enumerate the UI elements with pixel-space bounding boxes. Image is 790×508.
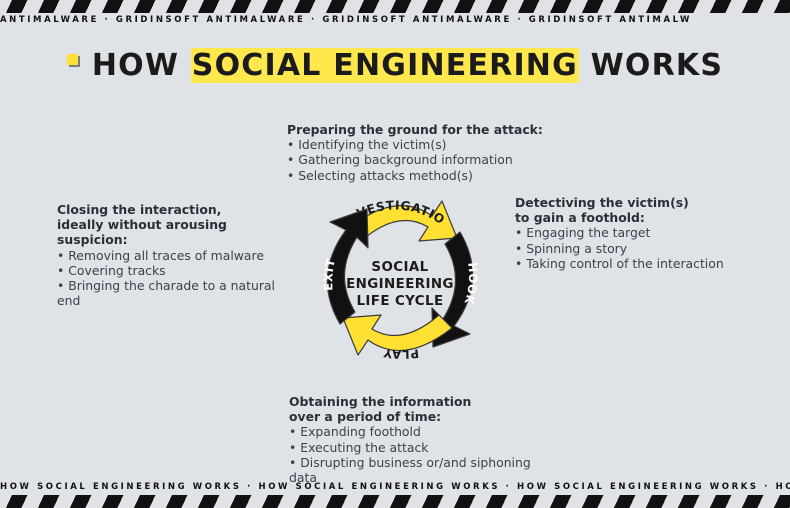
- infographic-page: ANTIMALWARE · GRIDINSOFT ANTIMALWARE · G…: [0, 0, 790, 508]
- list-item: Bringing the charade to a natural end: [57, 278, 287, 308]
- list-item: Covering tracks: [57, 263, 287, 278]
- list-item: Taking control of the interaction: [515, 256, 755, 271]
- list-item: Removing all traces of malware: [57, 248, 287, 263]
- cycle-center-line-1: SOCIAL: [371, 260, 428, 275]
- page-title: HOW SOCIAL ENGINEERING WORKS: [92, 48, 723, 83]
- cycle-arrow-label: PLAY: [382, 346, 420, 362]
- stage-block-detecting: Detectiving the victim(s) to gain a foot…: [515, 195, 755, 271]
- page-title-row: HOW SOCIAL ENGINEERING WORKS: [0, 48, 790, 83]
- top-diagonal-stripes: [0, 0, 790, 13]
- block-heading-line-2: to gain a foothold:: [515, 210, 755, 225]
- yellow-square-bullet-icon: [67, 54, 78, 65]
- list-item: Identifying the victim(s): [287, 137, 547, 152]
- cycle-arrow-investigation: INVESTIGATION: [300, 188, 457, 241]
- block-list: Identifying the victim(s) Gathering back…: [287, 137, 547, 183]
- stage-block-closing: Closing the interaction, ideally without…: [57, 202, 287, 308]
- list-item: Executing the attack: [289, 440, 549, 455]
- bottom-diagonal-stripes: [0, 495, 790, 508]
- block-heading-line-1: Closing the interaction,: [57, 202, 287, 217]
- cycle-arrow-play: PLAY: [343, 315, 452, 362]
- list-item: Expanding foothold: [289, 424, 549, 439]
- list-item: Engaging the target: [515, 225, 755, 240]
- block-heading-line-2: ideally without arousing suspicion:: [57, 217, 287, 247]
- stage-block-obtaining: Obtaining the information over a period …: [289, 394, 549, 485]
- block-heading-line-1: Obtaining the information: [289, 394, 549, 409]
- block-heading-line-2: over a period of time:: [289, 409, 549, 424]
- top-decorative-band: ANTIMALWARE · GRIDINSOFT ANTIMALWARE · G…: [0, 0, 790, 28]
- block-list: Engaging the target Spinning a story Tak…: [515, 225, 755, 271]
- bottom-decorative-band: HOW SOCIAL ENGINEERING WORKS · HOW SOCIA…: [0, 480, 790, 508]
- block-list: Expanding foothold Executing the attack …: [289, 424, 549, 485]
- block-heading: Preparing the ground for the attack:: [287, 122, 547, 137]
- top-marquee-text: ANTIMALWARE · GRIDINSOFT ANTIMALWARE · G…: [0, 13, 790, 28]
- list-item: Spinning a story: [515, 241, 755, 256]
- title-part-1: HOW: [92, 48, 191, 83]
- list-item: Selecting attacks method(s): [287, 168, 547, 183]
- title-part-2: WORKS: [579, 48, 723, 83]
- title-highlight: SOCIAL ENGINEERING: [191, 48, 579, 83]
- bottom-marquee-text: HOW SOCIAL ENGINEERING WORKS · HOW SOCIA…: [0, 480, 790, 495]
- block-heading-line-1: Detectiving the victim(s): [515, 195, 755, 210]
- cycle-center-line-3: LIFE CYCLE: [356, 294, 443, 309]
- cycle-center-line-2: ENGINEERING: [346, 277, 454, 292]
- social-engineering-life-cycle-diagram: INVESTIGATION HOOK PLAY: [300, 188, 500, 368]
- block-list: Removing all traces of malware Covering …: [57, 248, 287, 309]
- list-item: Gathering background information: [287, 152, 547, 167]
- cycle-svg: INVESTIGATION HOOK PLAY: [300, 188, 500, 368]
- stage-block-preparing: Preparing the ground for the attack: Ide…: [287, 122, 547, 183]
